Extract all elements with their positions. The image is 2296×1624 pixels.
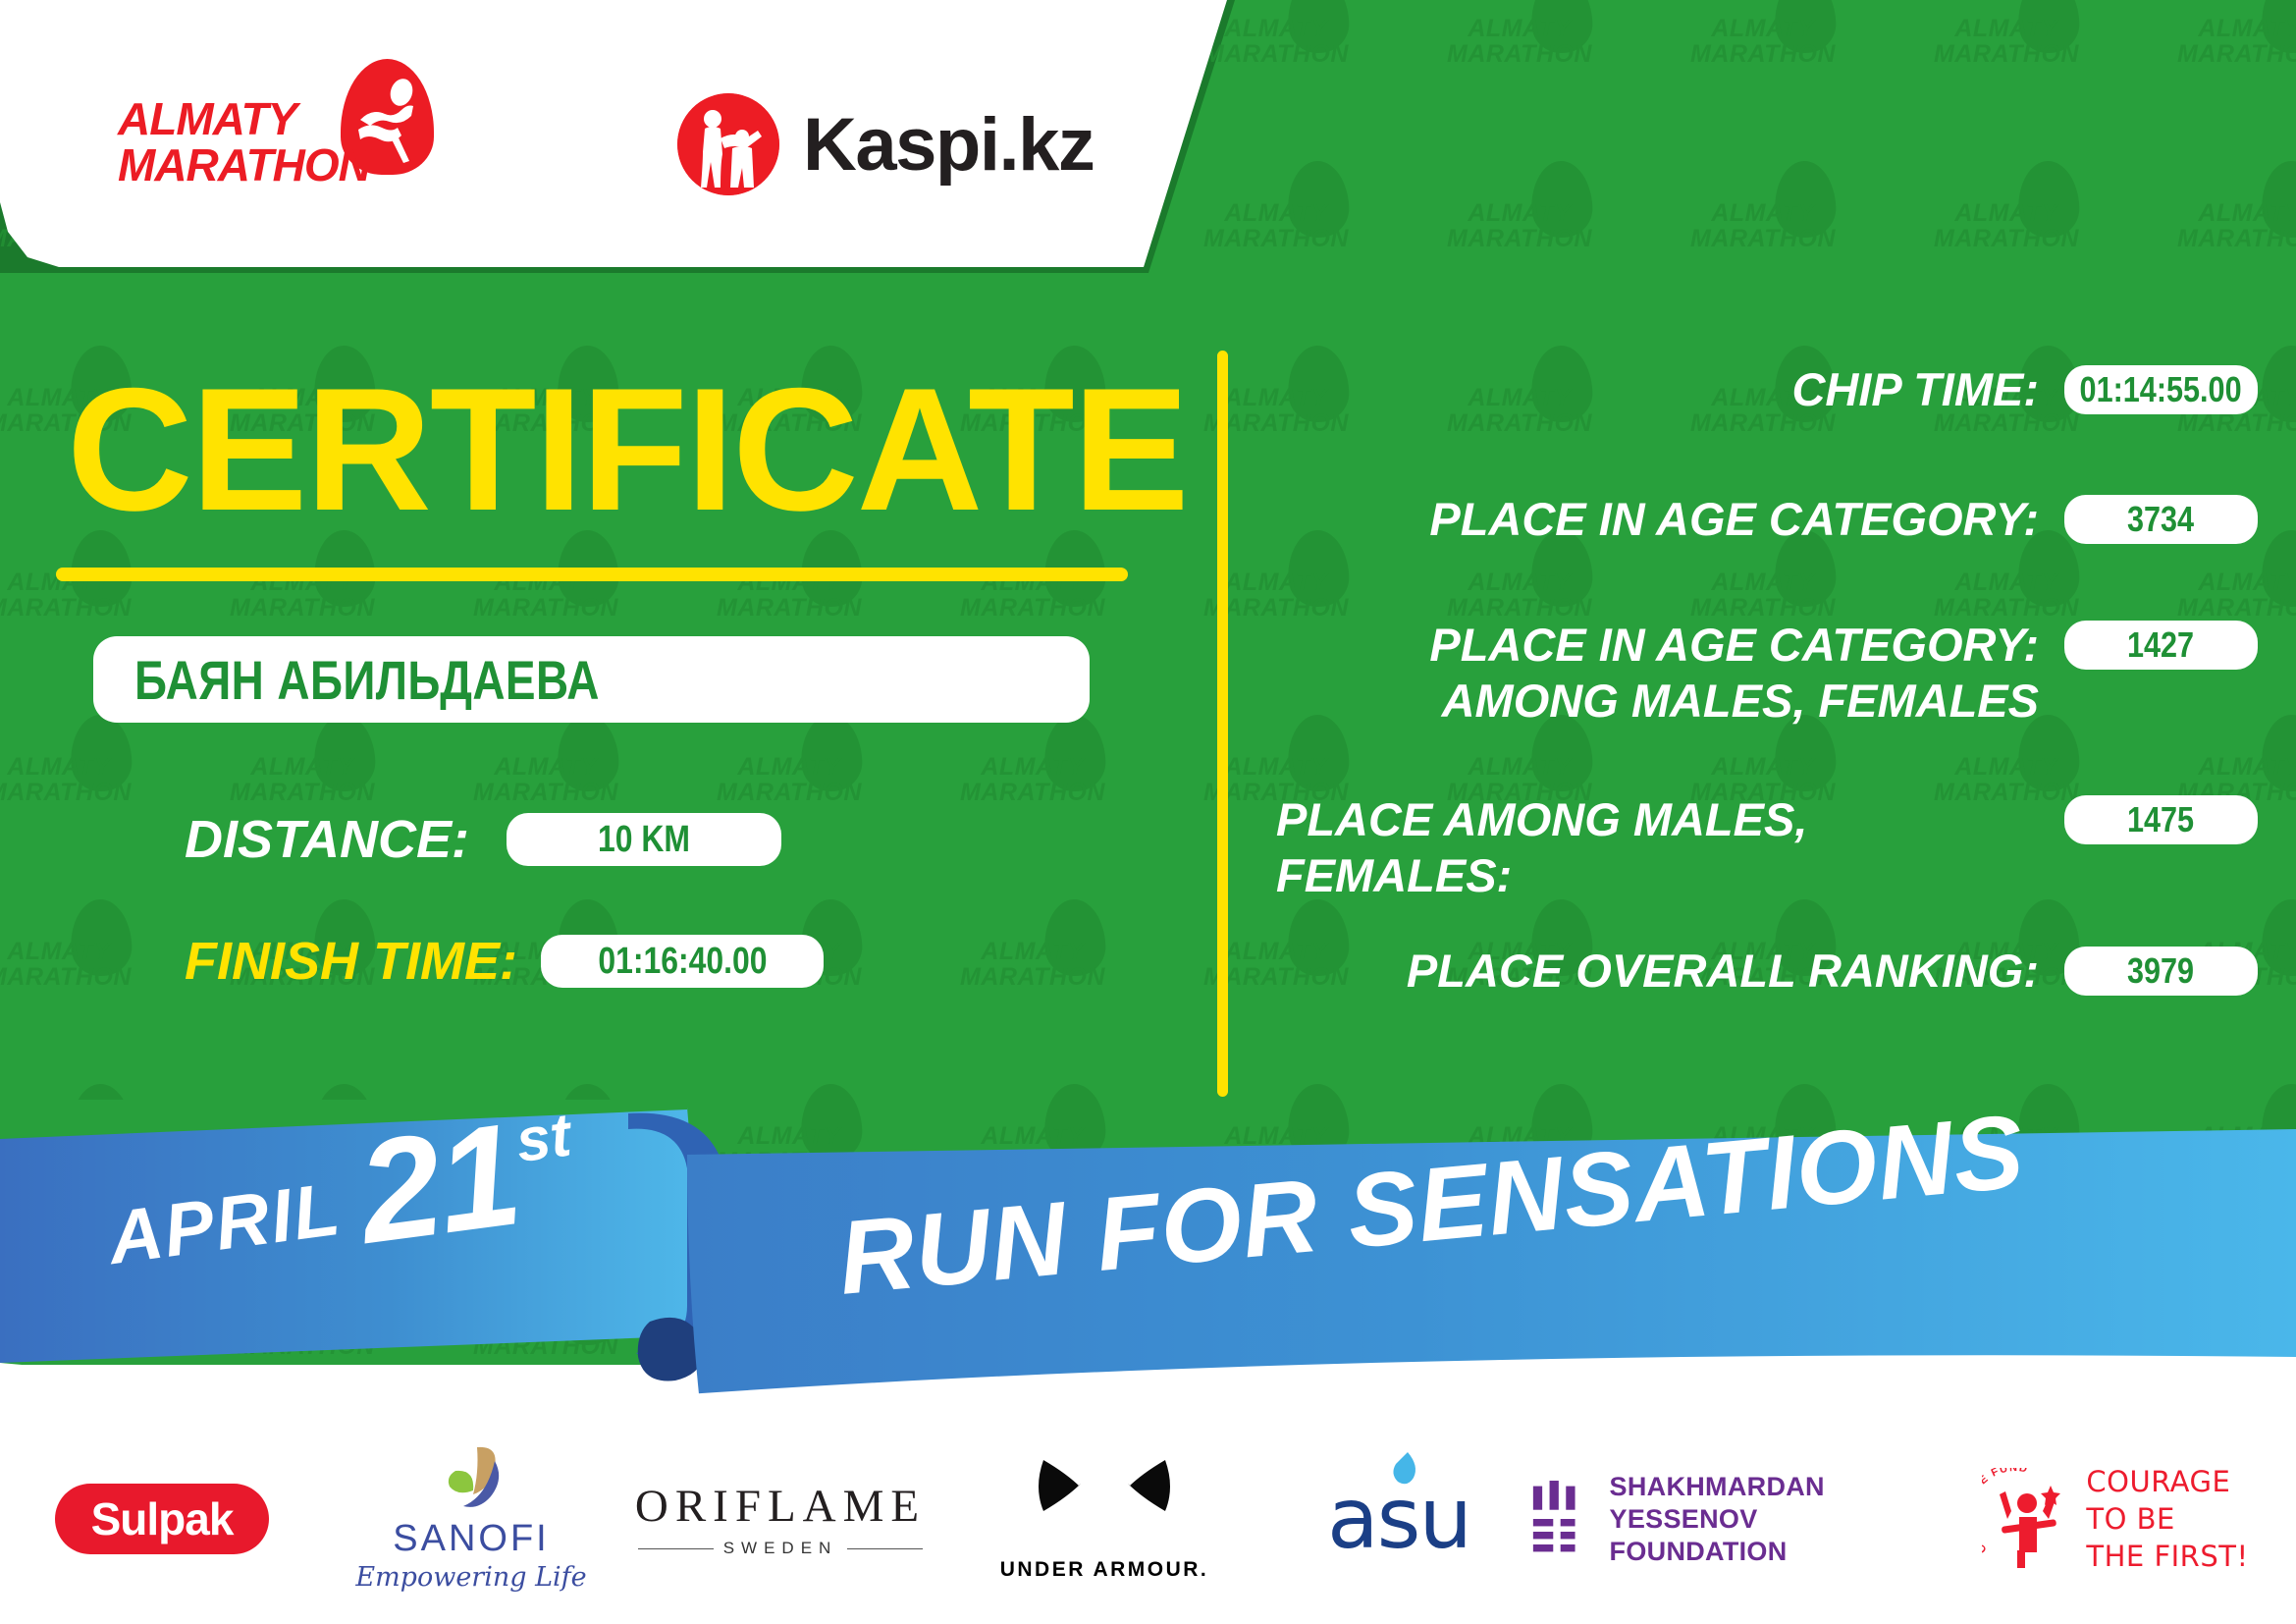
watermark-drop-icon [2261, 160, 2296, 239]
watermark-drop-icon [1043, 898, 1107, 977]
oriflame-sweden-label: SWEDEN [723, 1539, 838, 1558]
sulpak-logo: Sulpak [55, 1484, 269, 1554]
watermark-drop-icon [70, 898, 133, 977]
watermark-label: ALMATYMARATHON [1665, 200, 1861, 251]
watermark-label: ALMATYMARATHON [1908, 200, 2105, 251]
finish-time-label: FINISH TIME: [185, 931, 517, 992]
watermark-label: ALMATYMARATHON [448, 754, 644, 805]
under-armour-icon [1026, 1456, 1183, 1550]
participant-name: БАЯН АБИЛЬДАЕВА [134, 648, 600, 712]
sanofi-mark-icon [434, 1445, 508, 1514]
column-divider [1217, 351, 1228, 1097]
watermark-label: ALMATYMARATHON [1665, 1308, 1861, 1359]
yessenov-line2: FOUNDATION [1610, 1536, 1953, 1568]
watermark-drop-icon [2017, 160, 2081, 239]
oriflame-wordmark: ORIFLAME [635, 1480, 926, 1533]
stat-value: 1475 [2127, 799, 2194, 840]
watermark-label: ALMATYMARATHON [1665, 569, 1861, 621]
watermark-drop-icon [2017, 0, 2081, 54]
yessenov-line1: SHAKHMARDAN YESSENOV [1610, 1471, 1953, 1536]
distance-value: 10 KM [598, 819, 690, 861]
watermark-label: ALMATYMARATHON [2152, 16, 2296, 67]
sanofi-wordmark: SANOFI [393, 1518, 549, 1560]
event-day: 21 [352, 1110, 525, 1258]
watermark-label: ALMATYMARATHON [448, 1308, 644, 1359]
watermark-drop-icon [70, 1083, 133, 1162]
watermark-label: ALMATYMARATHON [1421, 569, 1618, 621]
watermark-drop-icon [1530, 1268, 1594, 1346]
finish-time-value-pill: 01:16:40.00 [541, 935, 824, 988]
almaty-marathon-wordmark: ALMATY MARATHON [118, 96, 370, 189]
courage-wordmark: COURAGE TO BE THE FIRST! [2086, 1463, 2248, 1575]
watermark-drop-icon [557, 1268, 620, 1346]
almaty-logo-line1: ALMATY [118, 96, 370, 142]
watermark-label: ALMATYMARATHON [2152, 569, 2296, 621]
watermark-drop-icon [557, 714, 620, 792]
watermark-label: ALMATYMARATHON [1178, 200, 1374, 251]
watermark-drop-icon [313, 714, 377, 792]
sponsor-under-armour: UNDER ARMOUR. [942, 1456, 1266, 1582]
watermark-label: ALMATYMARATHON [1908, 1308, 2105, 1359]
oriflame-rule-left [638, 1548, 714, 1549]
stat-row: PLACE IN AGE CATEGORY:AMONG MALES, FEMAL… [1276, 617, 2258, 729]
oriflame-sweden-row: SWEDEN [638, 1539, 923, 1558]
watermark-drop-icon [2261, 0, 2296, 54]
kaspi-figures-icon [677, 93, 779, 195]
stat-row: PLACE AMONG MALES,FEMALES:1475 [1276, 791, 2258, 903]
watermark-label: ALMATYMARATHON [0, 754, 157, 805]
watermark-label: ALMATYMARATHON [691, 1123, 887, 1174]
watermark-label: ALMATYMARATHON [2152, 1308, 2296, 1359]
watermark-drop-icon [2261, 714, 2296, 792]
watermark-label: ALMATYMARATHON [1421, 1308, 1618, 1359]
almaty-logo-line2: MARATHON [118, 142, 370, 189]
watermark-label: ALMATYMARATHON [934, 1308, 1131, 1359]
stat-value-pill: 01:14:55.00 [2064, 365, 2258, 414]
stat-value-pill: 1427 [2064, 621, 2258, 670]
watermark-label: ALMATYMARATHON [934, 939, 1131, 990]
watermark-drop-icon [313, 1268, 377, 1346]
watermark-drop-icon [2261, 529, 2296, 608]
watermark-drop-icon [70, 714, 133, 792]
page-title: CERTIFICATE [67, 361, 1188, 538]
asu-droplet-icon [1388, 1450, 1421, 1489]
watermark-label: ALMATYMARATHON [1908, 16, 2105, 67]
watermark-drop-icon [1774, 160, 1838, 239]
stat-label: PLACE IN AGE CATEGORY:AMONG MALES, FEMAL… [1276, 617, 2064, 729]
courage-line1: COURAGE [2086, 1463, 2248, 1500]
sanofi-tagline: Empowering Life [355, 1562, 586, 1593]
stat-label: PLACE IN AGE CATEGORY: [1276, 491, 2064, 547]
watermark-drop-icon [2261, 1083, 2296, 1162]
stat-label: CHIP TIME: [1276, 361, 2064, 417]
stat-value: 3979 [2127, 950, 2194, 992]
watermark-drop-icon [1774, 1268, 1838, 1346]
watermark-drop-icon [1043, 1083, 1107, 1162]
watermark-drop-icon [800, 714, 864, 792]
distance-row: DISTANCE: 10 KM [185, 809, 781, 870]
watermark-label: ALMATYMARATHON [1665, 16, 1861, 67]
event-day-ordinal: st [512, 1101, 575, 1177]
watermark-label: ALMATYMARATHON [934, 754, 1131, 805]
stat-value-pill: 3979 [2064, 947, 2258, 996]
sponsor-courage-fund: CORPORATE FUND COURAGE TO BE THE FIRST! [1953, 1463, 2277, 1575]
courage-line2: TO BE [2086, 1500, 2248, 1538]
stat-value: 01:14:55.00 [2080, 369, 2242, 410]
watermark-label: ALMATYMARATHON [691, 754, 887, 805]
watermark-label: ALMATYMARATHON [0, 939, 157, 990]
watermark-label: ALMATYMARATHON [1421, 16, 1618, 67]
watermark-label: ALMATYMARATHON [1908, 569, 2105, 621]
event-month: APRIL [103, 1166, 346, 1281]
distance-value-pill: 10 KM [507, 813, 781, 866]
stat-label: PLACE AMONG MALES,FEMALES: [1276, 791, 2064, 903]
finish-time-row: FINISH TIME: 01:16:40.00 [185, 931, 824, 992]
watermark-label: ALMATYMARATHON [2152, 200, 2296, 251]
title-underline [56, 568, 1128, 581]
kaspi-logo: Kaspi.kz [677, 93, 1094, 195]
watermark-drop-icon [1287, 1268, 1351, 1346]
watermark-drop-icon [2017, 1083, 2081, 1162]
certificate-canvas: ALMATYMARATHONALMATYMARATHONALMATYMARATH… [0, 0, 2296, 1624]
watermark-drop-icon [2261, 898, 2296, 977]
watermark-drop-icon [800, 1083, 864, 1162]
watermark-label: ALMATYMARATHON [204, 754, 400, 805]
stat-value-pill: 3734 [2064, 495, 2258, 544]
watermark-drop-icon [1530, 160, 1594, 239]
stat-row: PLACE OVERALL RANKING:3979 [1276, 943, 2258, 999]
watermark-drop-icon [2261, 345, 2296, 423]
sponsor-oriflame: ORIFLAME SWEDEN [618, 1480, 942, 1558]
stat-value: 1427 [2127, 624, 2194, 666]
watermark-label: ALMATYMARATHON [2152, 1123, 2296, 1174]
courage-runner-icon: CORPORATE FUND [1982, 1468, 2072, 1570]
stat-value: 3734 [2127, 499, 2194, 540]
watermark-label: ALMATYMARATHON [1421, 200, 1618, 251]
watermark-drop-icon [1287, 1083, 1351, 1162]
sponsor-sulpak: Sulpak [0, 1484, 324, 1554]
oriflame-rule-right [847, 1548, 923, 1549]
sponsor-yessenov-foundation: SHAKHMARDAN YESSENOV FOUNDATION [1531, 1471, 1953, 1568]
stat-value-pill: 1475 [2064, 795, 2258, 844]
watermark-drop-icon [2261, 1268, 2296, 1346]
watermark-drop-icon [2017, 1268, 2081, 1346]
watermark-drop-icon [1287, 0, 1351, 54]
sponsor-sanofi: SANOFI Empowering Life [324, 1445, 618, 1593]
kaspi-family-icon [677, 93, 779, 195]
watermark-label: ALMATYMARATHON [204, 1308, 400, 1359]
stat-row: CHIP TIME:01:14:55.00 [1276, 361, 2258, 417]
almaty-marathon-logo: ALMATY MARATHON [118, 59, 442, 196]
yessenov-mark-icon [1531, 1478, 1588, 1560]
yessenov-wordmark: SHAKHMARDAN YESSENOV FOUNDATION [1610, 1471, 1953, 1568]
watermark-label: ALMATYMARATHON [0, 1308, 157, 1359]
watermark-drop-icon [1043, 714, 1107, 792]
watermark-label: ALMATYMARATHON [1178, 1308, 1374, 1359]
sponsor-bar: Sulpak SANOFI Empowering Life ORIFLAME S… [0, 1414, 2296, 1624]
courage-line3: THE FIRST! [2086, 1538, 2248, 1575]
watermark-drop-icon [1530, 0, 1594, 54]
watermark-drop-icon [1774, 0, 1838, 54]
participant-name-field: БАЯН АБИЛЬДАЕВА [93, 636, 1090, 723]
watermark-drop-icon [1287, 160, 1351, 239]
sponsor-asu: asu [1266, 1470, 1531, 1568]
stat-label: PLACE OVERALL RANKING: [1276, 943, 2064, 999]
stat-row: PLACE IN AGE CATEGORY:3734 [1276, 491, 2258, 547]
finish-time-value: 01:16:40.00 [598, 941, 767, 983]
watermark-label: ALMATYMARATHON [934, 1123, 1131, 1174]
distance-label: DISTANCE: [185, 809, 469, 870]
kaspi-wordmark: Kaspi.kz [803, 102, 1094, 188]
under-armour-wordmark: UNDER ARMOUR. [1000, 1558, 1209, 1582]
watermark-label: ALMATYMARATHON [1178, 569, 1374, 621]
